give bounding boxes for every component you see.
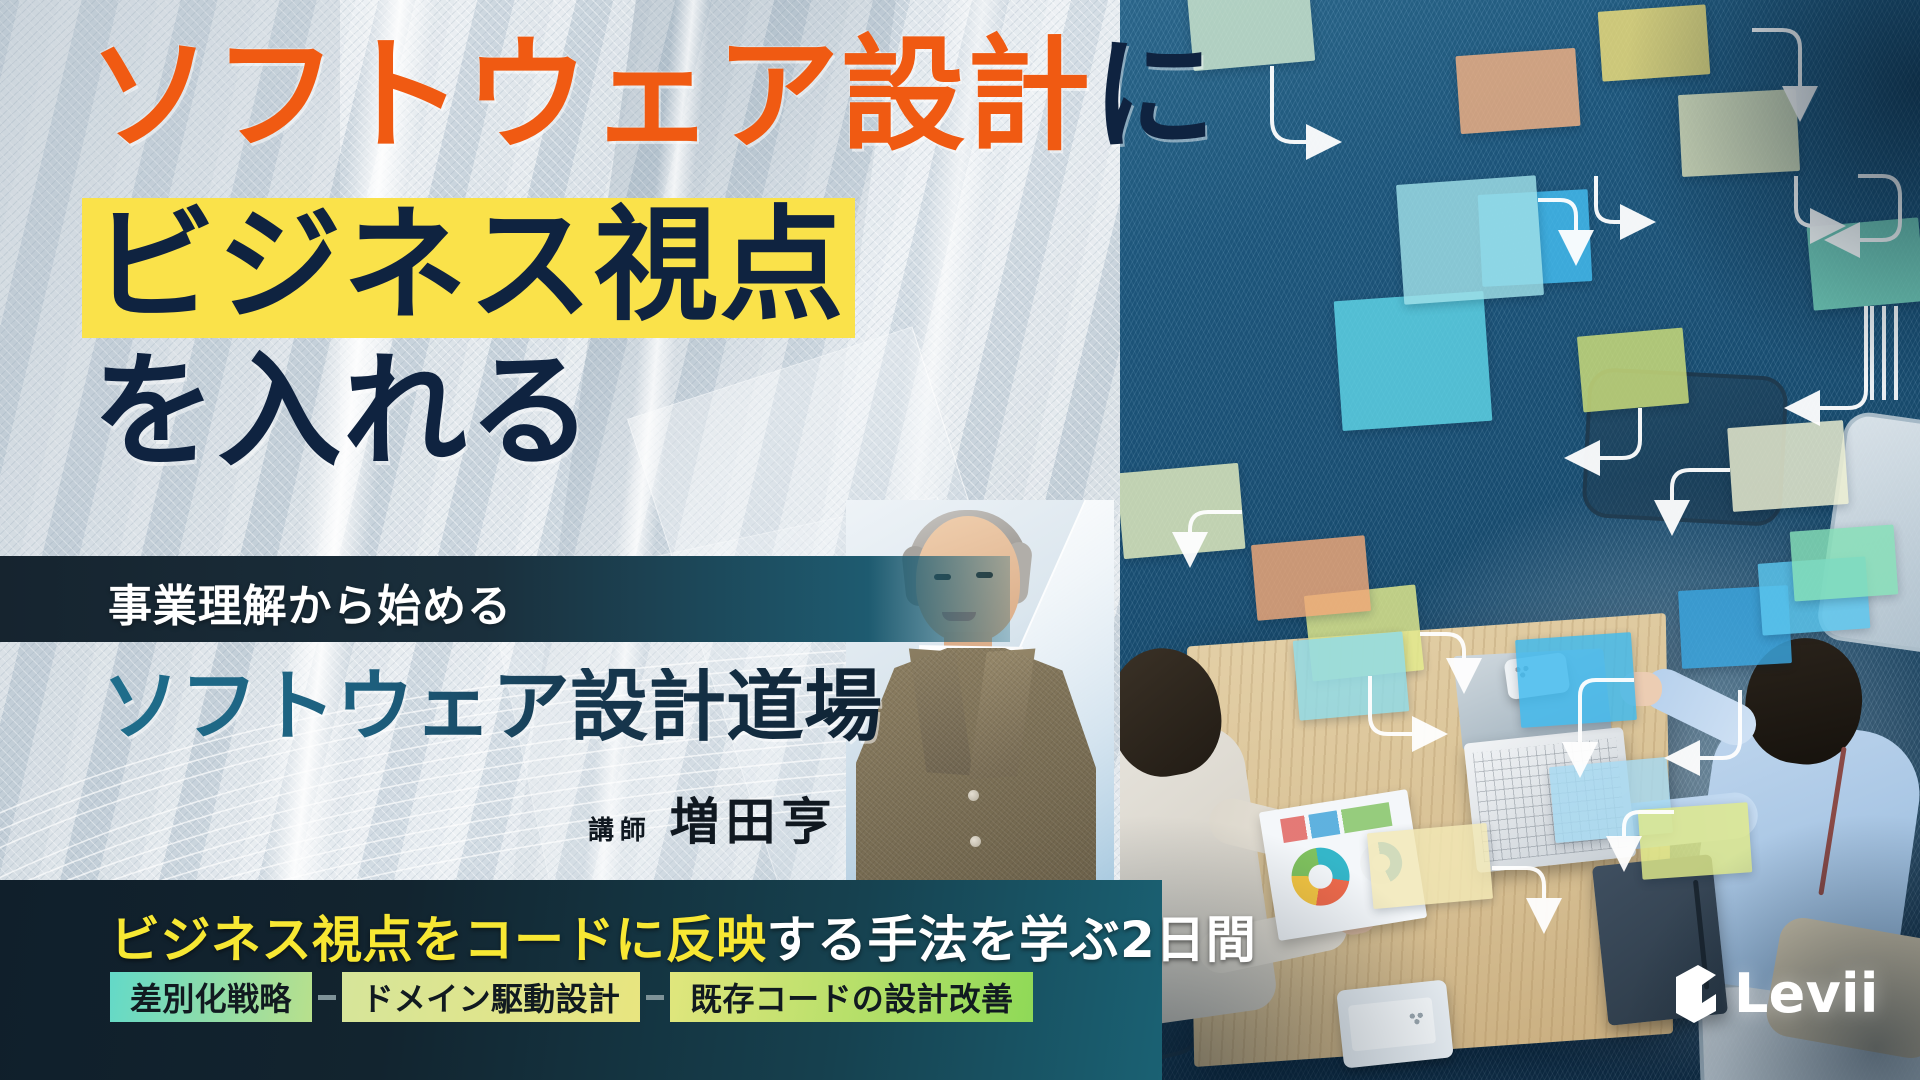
headline-line1-navy: に	[1092, 24, 1218, 168]
headline-highlight: ビジネス視点	[82, 198, 855, 338]
program-title: ソフトウェア設計道場	[102, 668, 882, 746]
headline-block: ソフトウェア設計に ビジネス視点 を入れる	[0, 0, 1120, 560]
headline-line-3: を入れる	[92, 350, 594, 474]
topic-chips: 差別化戦略 ドメイン駆動設計 既存コードの設計改善	[110, 972, 1033, 1022]
bottom-headline: ビジネス視点をコードに反映する手法を学ぶ2日間	[110, 900, 1256, 972]
instructor-name: 増田亨	[669, 782, 837, 854]
levii-wordmark: Levii	[1734, 962, 1879, 1025]
chip-separator	[318, 995, 336, 1000]
levii-cube-icon	[1672, 963, 1720, 1025]
headline-line1-orange: ソフトウェア設計	[88, 24, 1092, 168]
subtitle-text: 事業理解から始める	[108, 570, 512, 634]
event-poster: ソフトウェア設計に ビジネス視点 を入れる 事業理解から始める ソフトウェア設計…	[0, 0, 1920, 1080]
headline-line-1: ソフトウェア設計に	[88, 34, 1217, 158]
bottom-headline-white: する手法を学ぶ2日間	[767, 911, 1257, 969]
instructor-label: 講師	[588, 810, 651, 847]
topic-chip-2[interactable]: ドメイン駆動設計	[342, 972, 641, 1022]
levii-logo[interactable]: Levii	[1672, 962, 1879, 1025]
instructor-credit: 講師 増田亨	[588, 782, 837, 854]
topic-chip-1[interactable]: 差別化戦略	[110, 972, 312, 1022]
bottom-headline-yellow: ビジネス視点をコードに反映	[110, 911, 767, 969]
headline-line-2: ビジネス視点	[82, 198, 855, 338]
topic-chip-3[interactable]: 既存コードの設計改善	[670, 972, 1033, 1022]
chip-separator	[646, 995, 664, 1000]
